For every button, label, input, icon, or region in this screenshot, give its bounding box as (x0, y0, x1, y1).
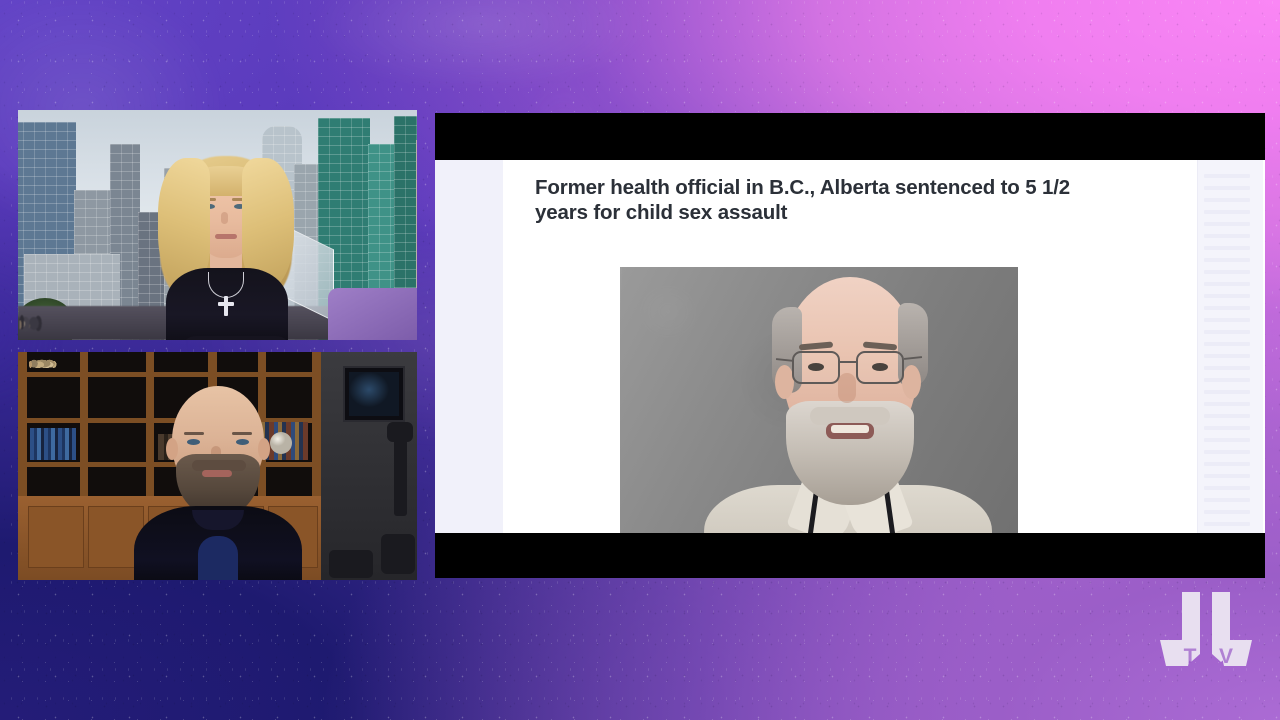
guest-ear-right (258, 438, 270, 460)
article-photo-subject (698, 273, 998, 533)
guest-inner-shirt (198, 536, 238, 580)
glasses-bridge (840, 361, 856, 363)
guest-eyebrow-right (232, 432, 252, 435)
wall-picture-frame (343, 366, 405, 422)
cross-pendant-horizontal (218, 302, 234, 306)
purple-podium (328, 288, 417, 340)
guest-ear-left (166, 438, 178, 460)
page-right-edge (1263, 160, 1265, 533)
anchor-mouth (215, 234, 237, 239)
logo-letters: T V (1184, 645, 1233, 668)
video-tile-anchor[interactable] (18, 110, 417, 340)
guest-eye-right (236, 439, 249, 445)
glasses-lens-left (792, 351, 840, 384)
cabinet-door-1 (28, 506, 84, 568)
letterbox-bar-bottom (435, 533, 1265, 578)
anchor-nose (221, 212, 228, 224)
bookshelf-ledge-1 (18, 372, 321, 377)
desk-equipment (329, 550, 373, 578)
subject-nose (838, 373, 856, 403)
article-headline: Former health official in B.C., Alberta … (535, 175, 1113, 225)
guest-eye-left (187, 439, 200, 445)
guest-person (130, 386, 306, 580)
subject-teeth (831, 425, 869, 433)
page-right-sidebar (1197, 160, 1264, 533)
svg-text:V: V (1219, 645, 1233, 668)
shelf-specimens-top (28, 356, 318, 371)
browser-article-page[interactable]: Former health official in B.C., Alberta … (435, 160, 1265, 533)
camera-gear-body (381, 534, 415, 574)
article-photo (620, 267, 1018, 533)
guest-eyebrow-left (184, 432, 204, 435)
video-tile-guest[interactable] (18, 352, 417, 580)
shelf-books-left (30, 428, 76, 460)
camera-gear-stand (394, 430, 407, 516)
svg-text:T: T (1184, 645, 1197, 668)
letterbox-bar-top (435, 113, 1265, 160)
anchor-person (136, 150, 316, 340)
camera-gear-head (387, 422, 413, 442)
subject-ear-right (902, 365, 921, 399)
guest-mouth (202, 470, 232, 477)
tv-logo-watermark: T V (1160, 592, 1256, 670)
anchor-folded-arms (180, 336, 292, 340)
page-left-margin (435, 160, 503, 533)
glasses-lens-right (856, 351, 904, 384)
cross-pendant-vertical (224, 296, 228, 316)
shared-screen-panel[interactable]: Former health official in B.C., Alberta … (435, 113, 1265, 578)
